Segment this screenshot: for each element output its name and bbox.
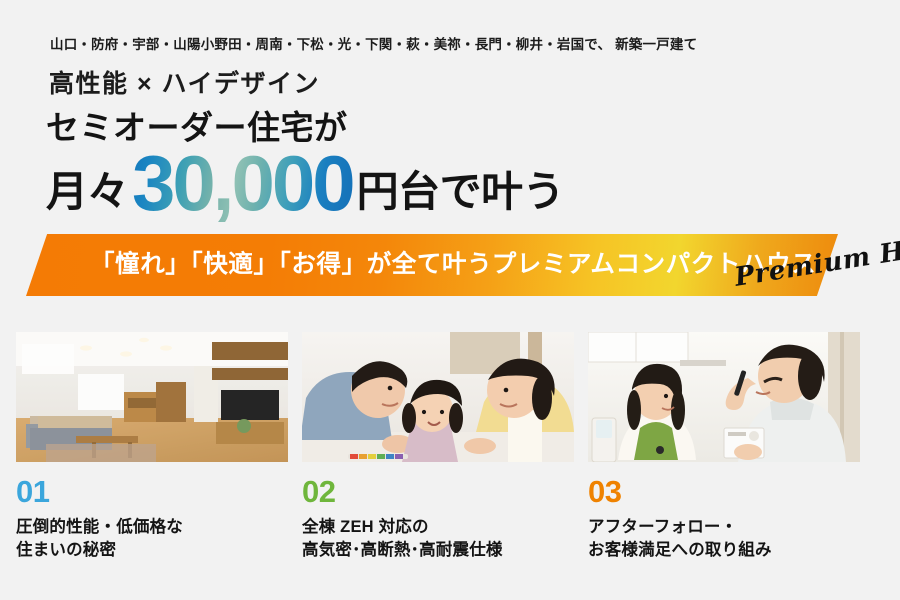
- price-amount: 30,000: [132, 144, 353, 222]
- feature-card-number: 02: [302, 476, 574, 507]
- staff-consultation-photo: [588, 332, 860, 462]
- feature-card-number: 03: [588, 476, 860, 507]
- feature-card-title: 圧倒的性能・低価格な 住まいの秘密: [16, 516, 288, 563]
- headline-primary: 高性能 × ハイデザイン: [49, 64, 320, 100]
- family-lying-on-floor-photo: [302, 332, 574, 462]
- feature-card[interactable]: 02 全棟 ZEH 対応の 高気密･高断熱･高耐震仕様: [302, 332, 574, 563]
- price-statement: 月々 30,000 円台で叶う: [46, 140, 564, 218]
- service-area-line: 山口・防府・宇部・山陽小野田・周南・下松・光・下関・萩・美祢・長門・柳井・岩国で…: [50, 33, 697, 53]
- feature-card-list: 01 圧倒的性能・低価格な 住まいの秘密: [0, 332, 900, 563]
- ribbon-tagline-text: 「憧れ」「快適」「お得」が全て叶うプレミアムコンパクトハウス: [90, 234, 816, 296]
- promo-banner: 山口・防府・宇部・山陽小野田・周南・下松・光・下関・萩・美祢・長門・柳井・岩国で…: [0, 0, 900, 600]
- price-suffix: 円台で叶う: [357, 171, 565, 213]
- feature-card-title: アフターフォロー・ お客様満足への取り組み: [588, 516, 860, 563]
- feature-card[interactable]: 01 圧倒的性能・低価格な 住まいの秘密: [16, 332, 288, 563]
- living-room-interior-photo: [16, 332, 288, 462]
- feature-card-title: 全棟 ZEH 対応の 高気密･高断熱･高耐震仕様: [302, 516, 574, 563]
- price-prefix: 月々: [46, 171, 128, 213]
- feature-card-number: 01: [16, 476, 288, 507]
- feature-card[interactable]: 03 アフターフォロー・ お客様満足への取り組み: [588, 332, 860, 563]
